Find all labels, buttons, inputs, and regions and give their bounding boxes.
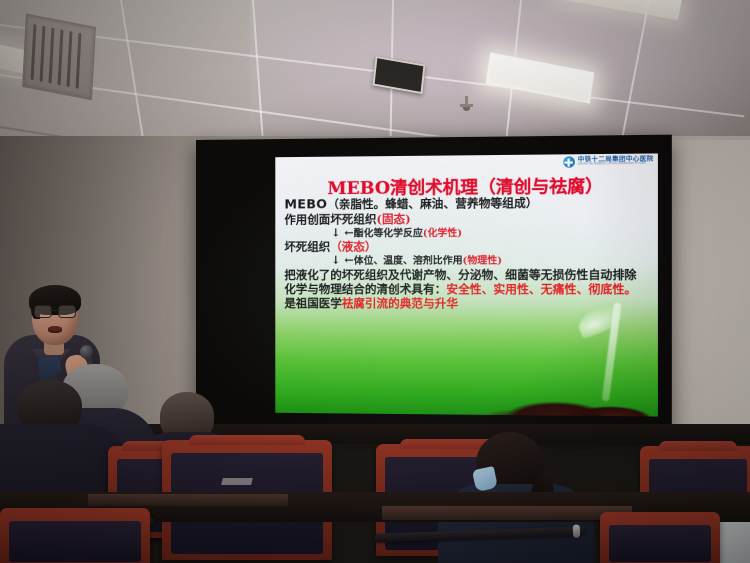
hospital-cross-logo-icon (563, 156, 575, 167)
slide-line-text: （亲脂性。蜂蜡、麻油、营养物等组成） (327, 196, 537, 212)
slide-line: ↓ ←体位、温度、溶剂比作用(物理性) (284, 254, 651, 268)
slide-line: 作用创面坏死组织(固态) (284, 211, 651, 226)
slide-line-text: 是祖国医学 (284, 296, 341, 310)
slide-arrow: ↓ ← (331, 254, 354, 267)
slide-body: MEBO（亲脂性。蜂蜡、麻油、营养物等组成） 作用创面坏死组织(固态) ↓ ←酯… (284, 195, 651, 312)
conference-chair[interactable] (600, 512, 720, 563)
slide-line-text: 坏死组织 (284, 240, 330, 254)
slide-line: 把液化了的坏死组织及代谢产物、分泌物、细菌等无损伤性自动排除 (284, 269, 651, 283)
slide-soil-image (275, 383, 658, 417)
presenter-mouth (48, 326, 62, 333)
slide-line-mark: 安全性、实用性、无痛性、彻底性。 (446, 282, 636, 296)
slide-line-mark: 祛腐引流的典范与升华 (342, 297, 458, 311)
desk-surface (88, 494, 288, 506)
slide-line-tag: MEBO (284, 196, 327, 211)
slide-line-mark: (物理性) (463, 256, 502, 267)
documents-on-desk (221, 478, 253, 485)
conference-chair[interactable] (0, 508, 150, 563)
hospital-logo: 中铁十二局集团中心医院 ZHONGTIE SHIERJU JITUAN ZHON… (563, 156, 654, 168)
projection-screen[interactable]: 中铁十二局集团中心医院 ZHONGTIE SHIERJU JITUAN ZHON… (196, 135, 672, 436)
ceiling (0, 0, 750, 148)
presenter-glasses (34, 305, 76, 317)
projected-slide: 中铁十二局集团中心医院 ZHONGTIE SHIERJU JITUAN ZHON… (275, 153, 658, 416)
slide-line: 化学与物理结合的清创术具有：安全性、实用性、无痛性、彻底性。 (284, 283, 651, 297)
slide-line-mark: （液态） (330, 240, 376, 254)
slide-arrow: ↓ ← (331, 226, 354, 239)
desk-microphone[interactable] (560, 446, 622, 456)
conference-room-photo: 中铁十二局集团中心医院 ZHONGTIE SHIERJU JITUAN ZHON… (0, 0, 750, 563)
slide-line-mark: (化学性) (423, 227, 462, 238)
slide-line: ↓ ←酯化等化学反应(化学性) (284, 226, 651, 240)
ceiling-shadow (0, 0, 250, 148)
fire-sprinkler-icon (465, 96, 468, 109)
slide-line-mark: (固态) (376, 211, 410, 225)
slide-line-text: 化学与物理结合的清创术具有： (284, 282, 446, 296)
desk-surface (382, 506, 632, 520)
slide-line: MEBO（亲脂性。蜂蜡、麻油、营养物等组成） (284, 195, 651, 212)
hospital-name-en: ZHONGTIE SHIERJU JITUAN ZHONGXIN YIYUAN (578, 163, 654, 166)
slide-line-text: 酯化等化学反应 (354, 228, 423, 239)
slide-line-text: 体位、温度、溶剂比作用 (354, 256, 463, 267)
slide-line: 坏死组织（液态） (284, 240, 651, 254)
microphone-head-icon (80, 345, 93, 359)
slide-line: 是祖国医学祛腐引流的典范与升华 (284, 297, 651, 311)
slide-line-text: 作用创面坏死组织 (284, 211, 376, 226)
